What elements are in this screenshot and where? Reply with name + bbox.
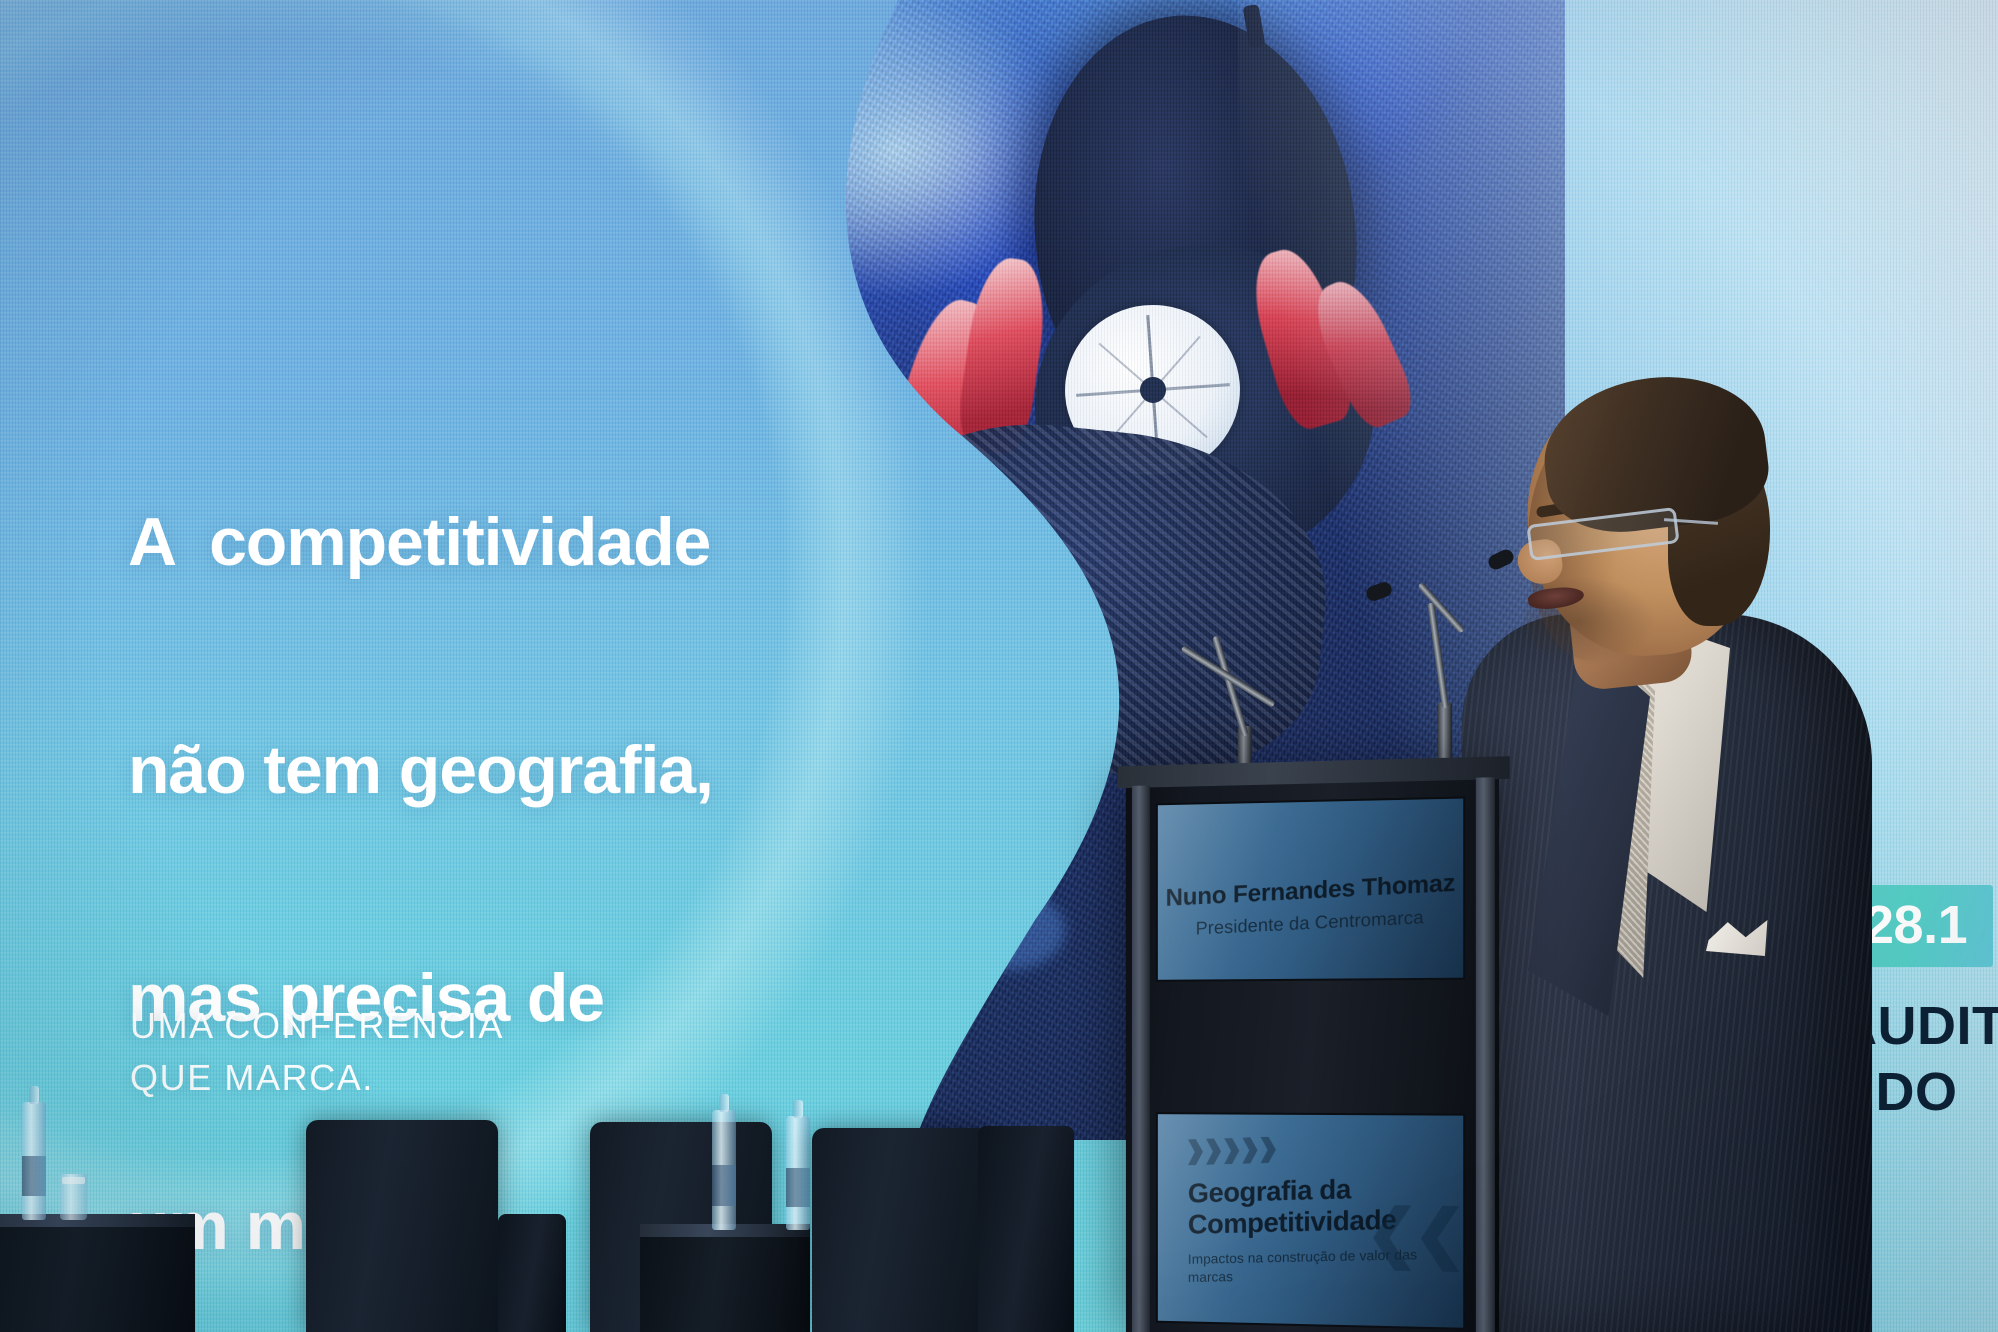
slide-tagline: UMA CONFERÊNCIA QUE MARCA.	[130, 1000, 504, 1104]
conference-stage-photo: A competitividade não tem geografia, mas…	[0, 0, 1998, 1332]
chevron-right-icon	[1224, 1138, 1239, 1165]
armchair-armrest	[498, 1214, 566, 1332]
lectern-brand-panel: Geografia da Competitividade Impactos na…	[1156, 1112, 1465, 1330]
nameplate-text-block: Nuno Fernandes Thomaz Presidente da Cent…	[1158, 869, 1463, 942]
lectern-frame-rail-right	[1476, 777, 1495, 1332]
drinking-glass	[60, 1174, 87, 1220]
conference-title-line-2: Competitividade	[1188, 1203, 1444, 1241]
lectern: Nuno Fernandes Thomaz Presidente da Cent…	[1126, 773, 1499, 1332]
headline-line-2: não tem geografia,	[128, 732, 713, 808]
side-table	[640, 1224, 810, 1332]
lectern-nameplate-panel: Nuno Fernandes Thomaz Presidente da Cent…	[1156, 796, 1465, 981]
brand-logo-block: Geografia da Competitividade Impactos na…	[1188, 1131, 1444, 1287]
chevron-right-icon	[1242, 1137, 1257, 1164]
armchair-armrest	[978, 1126, 1074, 1332]
conference-title-line-1: Geografia da	[1188, 1171, 1444, 1209]
bottle-label	[22, 1156, 46, 1196]
chevron-right-icon	[1188, 1139, 1203, 1166]
stage-armchair	[812, 1128, 990, 1332]
stage-armchair	[306, 1120, 498, 1332]
tagline-line-1: UMA CONFERÊNCIA	[130, 1000, 504, 1052]
bottle-label	[712, 1165, 736, 1206]
lectern-frame-rail-left	[1132, 785, 1150, 1332]
headline-line-1: A competitividade	[128, 504, 713, 580]
quote-mark-icon: ❮❮	[1365, 1213, 1461, 1255]
conference-subtitle: Impactos na construção de valor das marc…	[1188, 1245, 1444, 1287]
side-table	[0, 1214, 195, 1332]
bottle-label	[786, 1168, 810, 1207]
speaker-person	[1432, 400, 1882, 1332]
water-bottle	[786, 1116, 810, 1230]
stage-foreground-furniture	[0, 1092, 1120, 1332]
water-bottle	[712, 1110, 736, 1230]
speaker-role: Presidente da Centromarca	[1158, 905, 1463, 942]
chevron-right-icon	[1261, 1136, 1276, 1163]
chevron-right-icon-group	[1188, 1131, 1444, 1165]
chevron-right-icon	[1206, 1138, 1221, 1165]
speaker-name: Nuno Fernandes Thomaz	[1158, 869, 1463, 913]
water-bottle	[22, 1102, 46, 1220]
